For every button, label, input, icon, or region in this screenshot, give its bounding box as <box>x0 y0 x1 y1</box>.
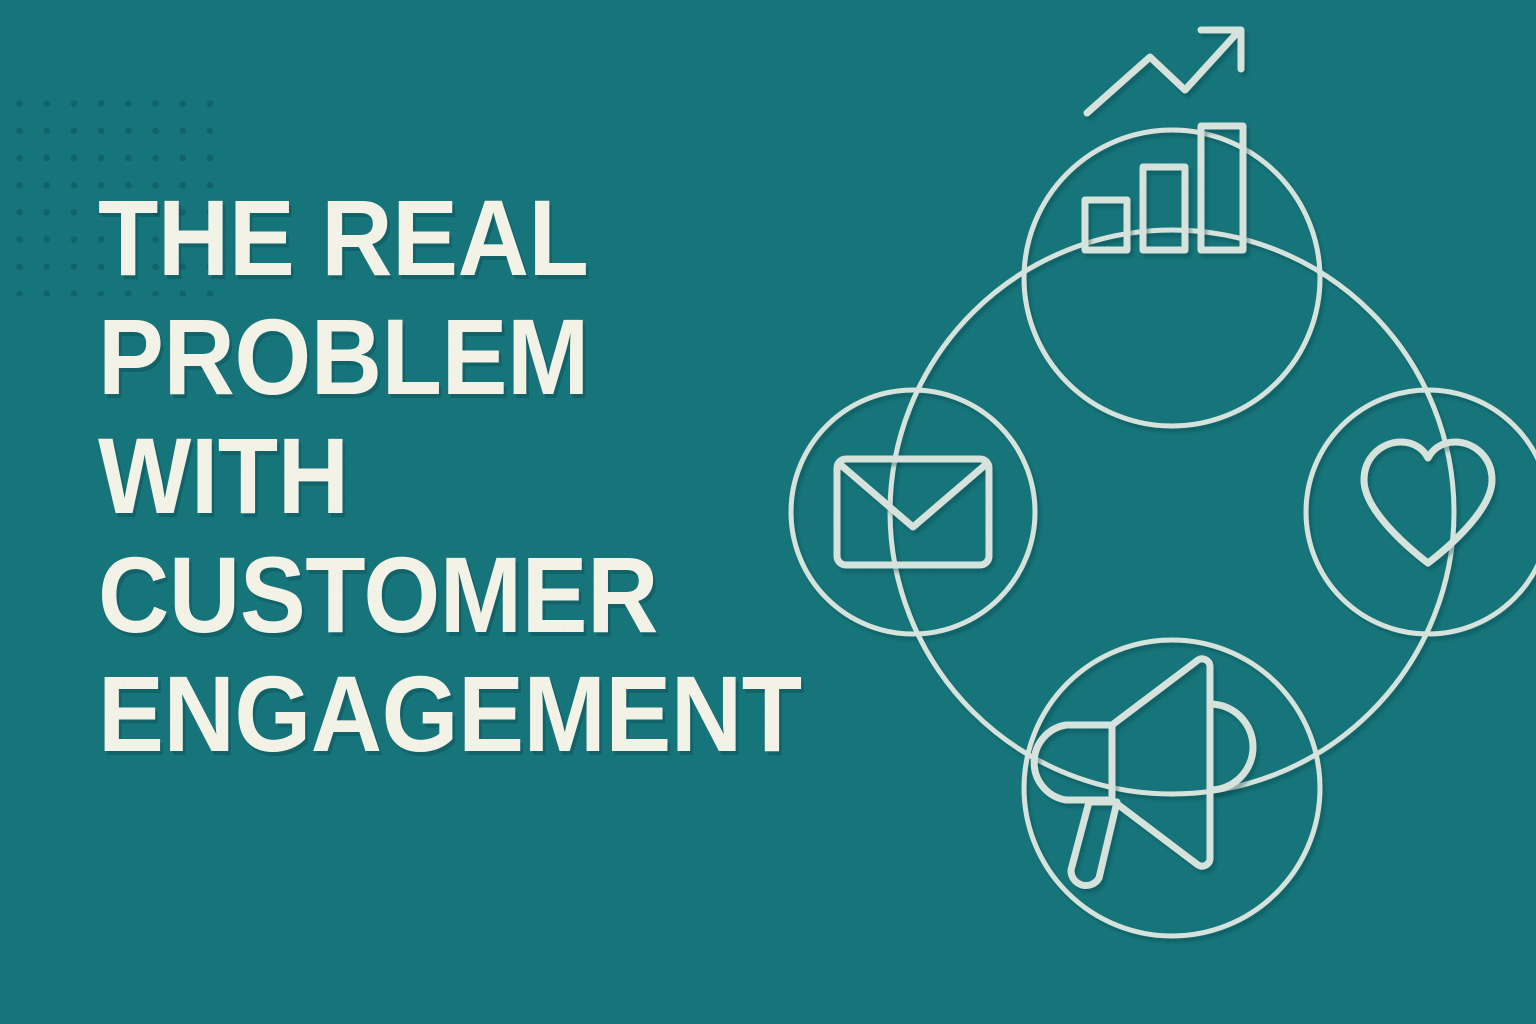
customer-engagement-cycle <box>760 0 1536 1024</box>
slide-canvas: THE REAL PROBLEM WITH CUSTOMER ENGAGEMEN… <box>0 0 1536 1024</box>
node-circle-promotion <box>1024 640 1320 936</box>
connecting-ring <box>890 230 1454 794</box>
node-circle-loyalty <box>1306 390 1536 634</box>
heart-icon <box>1364 442 1492 563</box>
envelope-icon <box>837 459 989 565</box>
node-circle-growth <box>1024 130 1320 426</box>
node-circle-email <box>791 390 1035 634</box>
